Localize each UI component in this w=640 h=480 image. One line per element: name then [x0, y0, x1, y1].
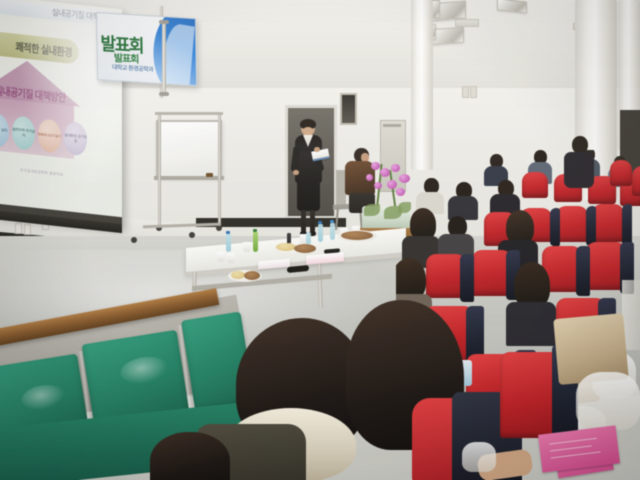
- whiteboard-marker[interactable]: [206, 173, 213, 177]
- plastic-bag: [576, 372, 640, 430]
- presenter-hand: [293, 170, 299, 175]
- water-bottle[interactable]: [318, 224, 323, 242]
- whiteboard-marker-tray: [154, 176, 224, 180]
- booklet-text-line: [549, 438, 597, 445]
- banner-pole-cap: [159, 92, 169, 96]
- audience-torso: [564, 152, 594, 188]
- bench-scuff: [20, 382, 67, 413]
- presenter-leg: [310, 210, 315, 232]
- auditorium-seat-side: [622, 204, 632, 246]
- bottle-cap: [226, 231, 230, 234]
- wall-plate: [470, 86, 477, 98]
- wall-socket: [15, 223, 22, 234]
- foliage: [364, 204, 380, 216]
- orchid-bloom: [380, 168, 390, 177]
- event-banner: 발표회 발표회 대학교 환경공학과: [96, 12, 197, 86]
- tissue: [462, 442, 496, 472]
- audience-torso: [506, 302, 556, 346]
- bottle-cap: [330, 220, 334, 223]
- food-item: [244, 271, 260, 280]
- auditorium-seat[interactable]: [632, 166, 640, 196]
- bottle-cap: [253, 229, 257, 232]
- orchid-bloom: [371, 162, 380, 170]
- beverage-bottle[interactable]: [253, 232, 258, 252]
- auditorium-seat[interactable]: [592, 204, 624, 242]
- foreground-person-hair: [150, 432, 230, 480]
- paper-cup[interactable]: [243, 242, 251, 252]
- audience-hair: [506, 210, 534, 244]
- whiteboard-wheel: [216, 225, 222, 231]
- whiteboard-wheel: [189, 232, 195, 238]
- column: [411, 0, 433, 170]
- auditorium-seat[interactable]: [522, 172, 548, 198]
- auditorium-seat-side: [586, 206, 596, 246]
- auditorium-seat-side: [550, 208, 560, 246]
- auditorium-seat-side: [460, 254, 474, 302]
- wall-socket: [24, 224, 31, 235]
- banner-affiliation: 대학교 환경공학과: [112, 62, 153, 74]
- water-bottle[interactable]: [226, 234, 231, 252]
- whiteboard[interactable]: [156, 120, 222, 178]
- whiteboard-leg: [218, 114, 221, 226]
- water-bottle[interactable]: [330, 223, 335, 240]
- orchid-bloom: [374, 182, 382, 189]
- floor-bottle[interactable]: [306, 232, 311, 244]
- bottle-cap: [318, 221, 322, 224]
- food-item: [276, 243, 296, 251]
- cabinet-slot: [383, 124, 401, 127]
- paper-cup[interactable]: [217, 252, 225, 262]
- paper-cup[interactable]: [227, 253, 235, 263]
- bench-scuff: [119, 354, 170, 387]
- auditorium-seat[interactable]: [610, 160, 632, 186]
- food-item: [341, 231, 373, 240]
- food-item: [231, 271, 245, 279]
- booklet-text-line: [550, 445, 592, 451]
- banner-pole-cap: [159, 20, 169, 24]
- presenter-leg: [301, 210, 306, 232]
- auditorium-seat-side: [576, 246, 590, 296]
- whiteboard-wheel: [131, 237, 137, 243]
- booklet-text-line: [551, 451, 601, 458]
- auditorium-seat[interactable]: [556, 206, 588, 242]
- presenter-skirt: [297, 181, 320, 211]
- banner-pole: [162, 22, 166, 96]
- wall-plate: [462, 86, 469, 98]
- ceiling-vent: [455, 19, 479, 27]
- whiteboard-top-bar: [155, 112, 223, 115]
- whiteboard-leg: [158, 114, 161, 226]
- food-item: [294, 244, 316, 253]
- photo-scene: 실내공기질 대책방안 쾌적한 실내환경 실내공기질 대책방안 환기설비 설치 흡…: [0, 0, 640, 480]
- orchid-bloom: [366, 174, 373, 181]
- presenter-hand: [314, 147, 320, 152]
- wall-speaker-icon: [340, 93, 357, 125]
